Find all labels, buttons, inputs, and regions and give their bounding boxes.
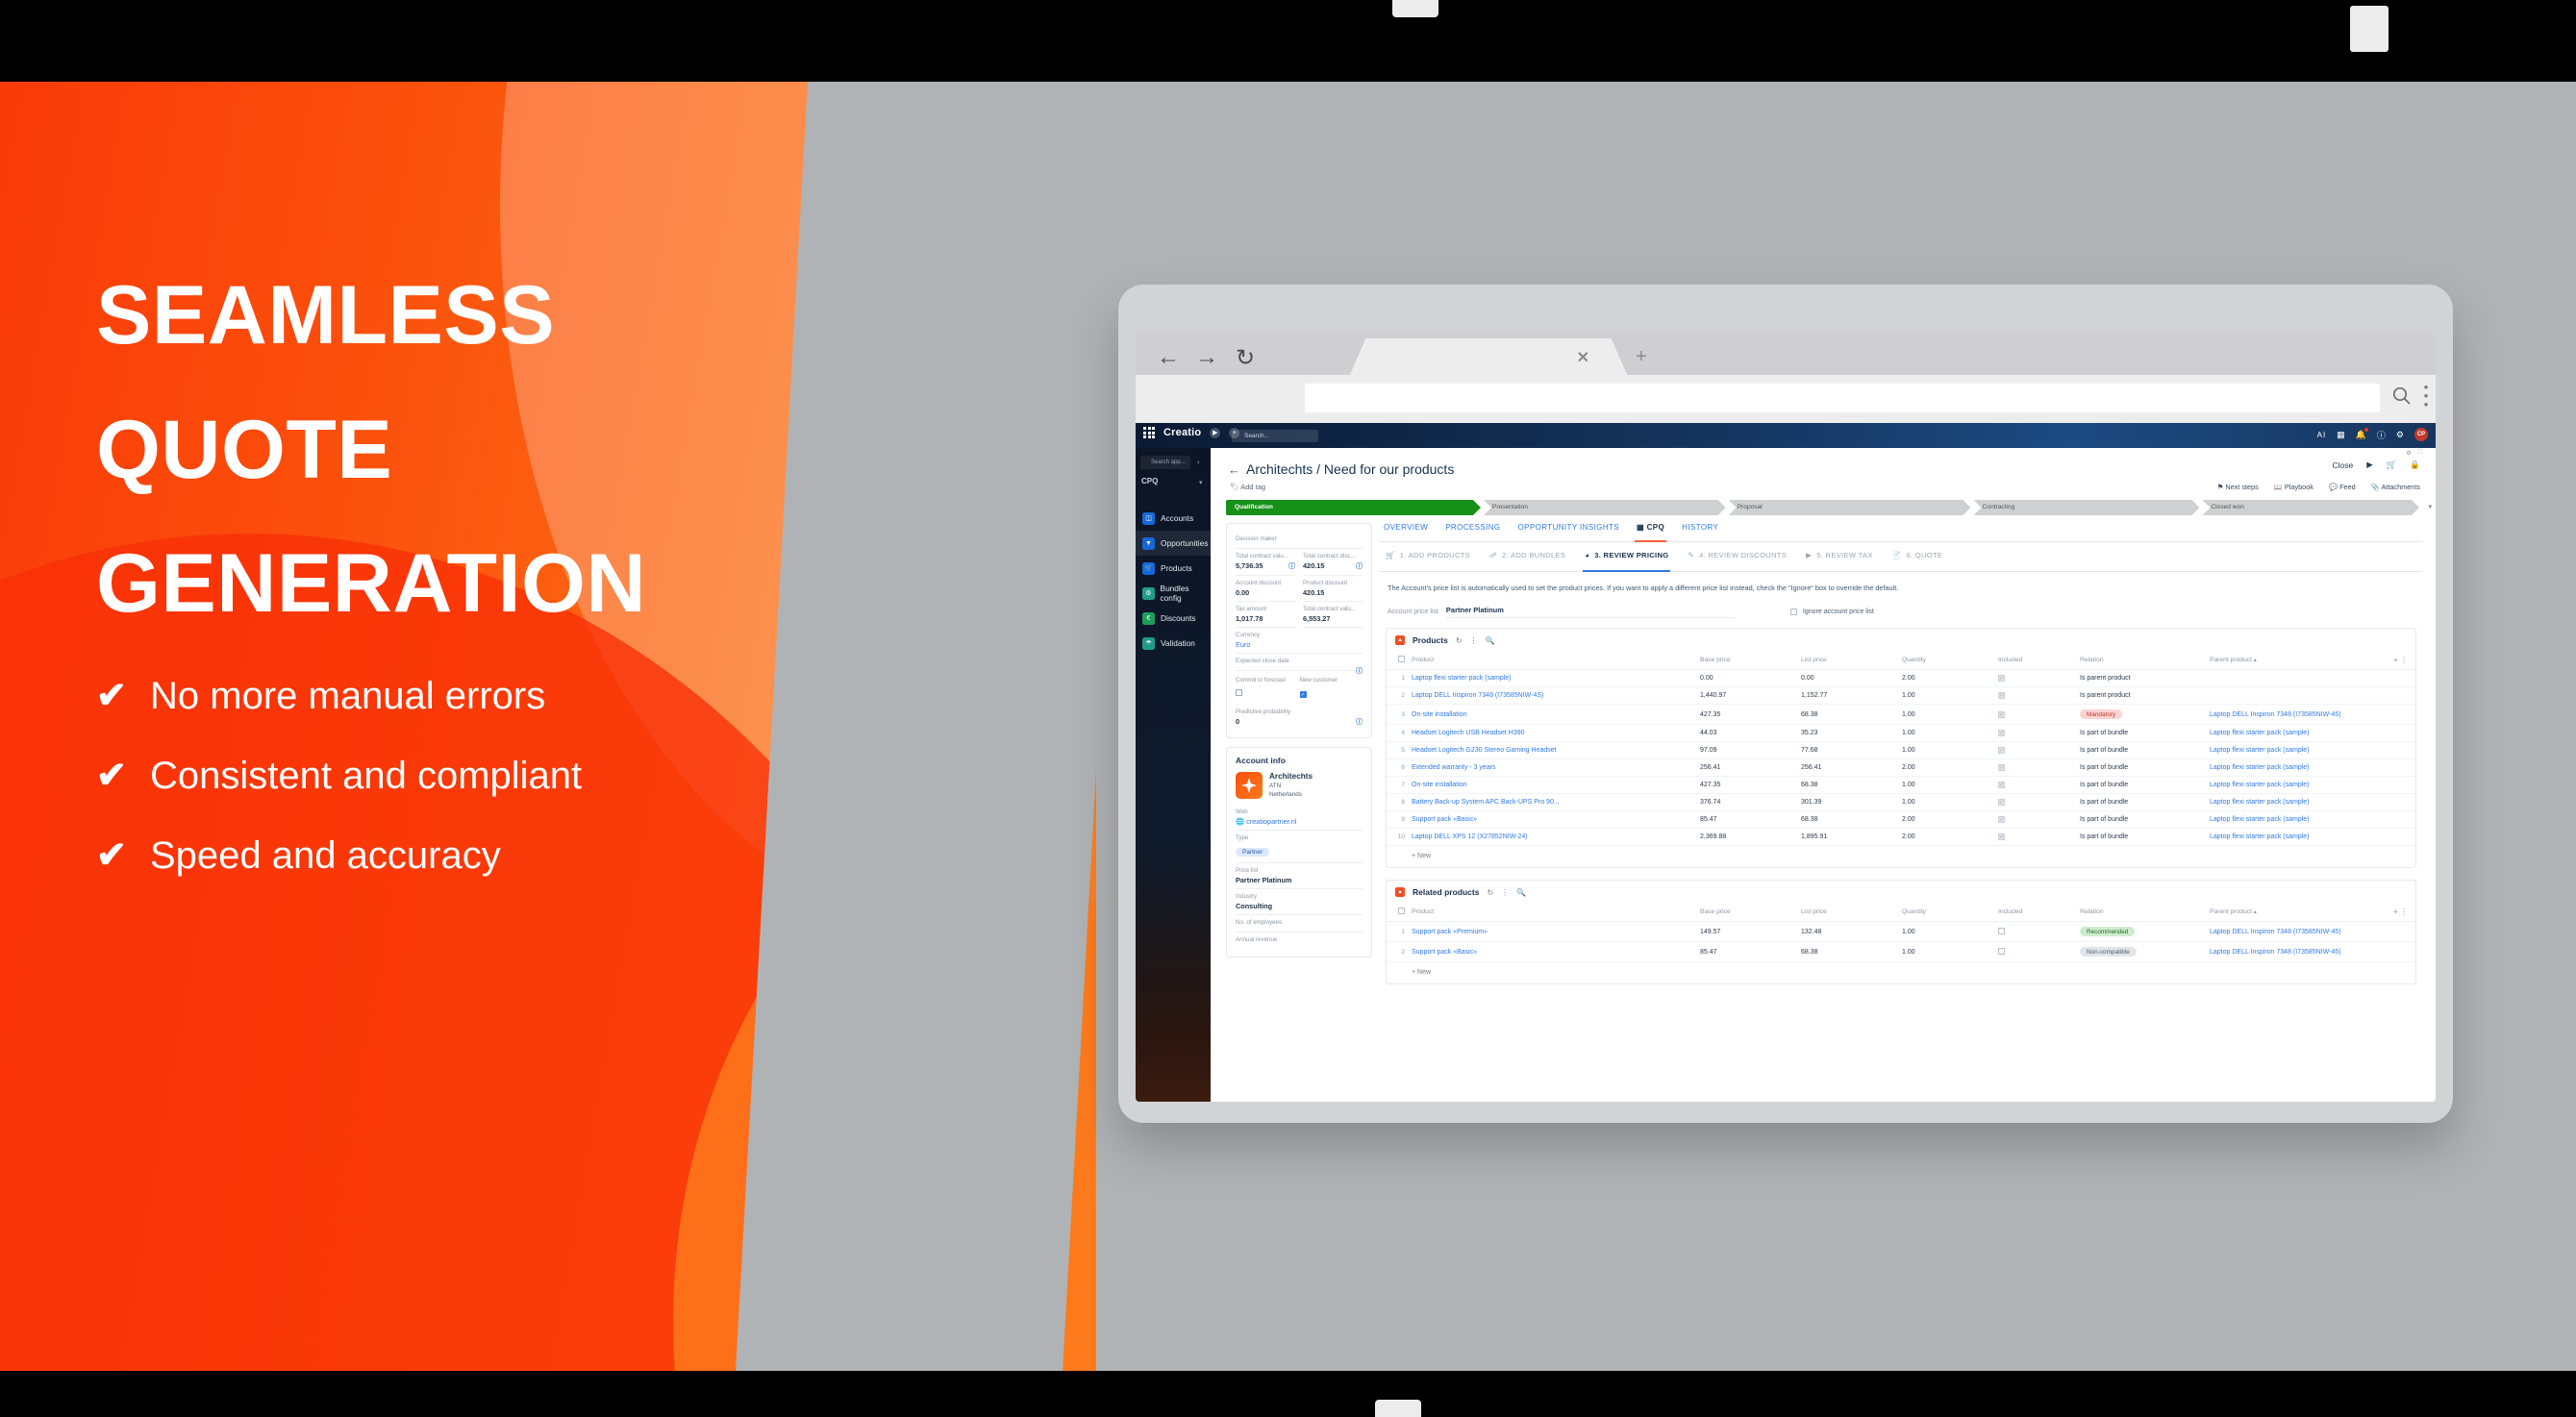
cell-relation: Is part of bundle (2080, 777, 2210, 794)
cell-included[interactable]: ✓ (1998, 670, 2080, 687)
tag-icon: 🏷 (1230, 483, 1239, 491)
product-link[interactable]: Extended warranty - 3 years (1412, 764, 1496, 771)
add-tag-button[interactable]: 🏷 Add tag (1230, 483, 1265, 491)
cell-product[interactable]: Support pack «Basic» (1412, 942, 1700, 962)
benefit-list: ✔ No more manual errors ✔ Consistent and… (96, 677, 646, 875)
close-button[interactable]: Close (2333, 460, 2354, 470)
row-index: 10 (1387, 829, 1412, 846)
sort-asc-icon: ▴ (2254, 658, 2257, 663)
info-icon[interactable]: ⓘ (1356, 561, 1363, 571)
sidebar-search-input[interactable]: Search app... (1140, 456, 1190, 469)
field-predictive-probability[interactable]: Predictive probability 0ⓘ (1236, 705, 1363, 730)
row-index: 1 (1387, 670, 1412, 687)
tab-cpq[interactable]: ▦ CPQ (1637, 523, 1664, 536)
kebab-menu-icon[interactable]: ⋮ (2400, 907, 2408, 916)
back-icon[interactable]: ← (1228, 462, 1240, 477)
cell-parent-product[interactable]: Laptop flexi starter pack (sample) (2210, 777, 2371, 794)
col-relation[interactable]: Relation (2080, 903, 2210, 922)
included-checkbox[interactable]: ✓ (1998, 833, 2005, 840)
field-value: 5,736.35ⓘ (1236, 561, 1295, 570)
cell-base-price: 1,440.97 (1700, 687, 1801, 705)
parent-product-link[interactable]: Laptop DELL Inspiron 7348 (I73585NIW-45) (2210, 929, 2341, 935)
collapse-icon[interactable]: ▲ (1395, 887, 1405, 897)
kebab-menu-icon[interactable]: ⋮ (1501, 888, 1509, 897)
col-included[interactable]: Included (1998, 651, 2080, 670)
field-total-contract-value-2[interactable]: Total contract valu... 6,553.27 (1303, 602, 1363, 628)
apps-grid-icon[interactable] (1143, 427, 1155, 438)
cell-list-price: 1,895.91 (1801, 829, 1902, 846)
list-item: ✔ Speed and accuracy (96, 836, 646, 875)
cell-base-price: 376.74 (1700, 794, 1801, 811)
field-type[interactable]: Type Partner (1236, 831, 1363, 863)
field-label: Annual revenue (1236, 936, 1363, 943)
avatar[interactable]: CP (2414, 428, 2428, 441)
field-value: 0ⓘ (1236, 717, 1363, 726)
field-commit-to-forecast[interactable]: Commit to forecast (1236, 673, 1292, 705)
cell-included[interactable]: ✓ (1998, 725, 2080, 742)
cell-relation: Is parent product (2080, 670, 2210, 687)
sidebar-item-label: Accounts (1161, 513, 1193, 523)
sidebar-item-label: Opportunities (1161, 538, 1208, 548)
cell-product[interactable]: Support pack «Premium» (1412, 922, 1700, 942)
stage-contracting[interactable]: Contracting (1974, 500, 2200, 515)
product-link[interactable]: Headset Logitech USB Headset H390 (1412, 730, 1525, 736)
parent-product-link[interactable]: Laptop flexi starter pack (sample) (2210, 730, 2310, 736)
included-checkbox[interactable]: ✓ (1998, 711, 2005, 718)
cell-list-price: 35.23 (1801, 725, 1902, 742)
sidebar-item-bundles-config[interactable]: ⚙ Bundles config (1136, 581, 1211, 606)
cell-base-price: 0.00 (1700, 670, 1801, 687)
refresh-icon[interactable]: ↻ (1487, 888, 1493, 897)
plus-icon[interactable]: + (2393, 656, 2398, 664)
account-price-list-value[interactable]: Partner Platinum (1446, 606, 1735, 618)
parent-product-link[interactable]: Laptop DELL Inspiron 7348 (I73585NIW-45) (2210, 949, 2341, 956)
table-row[interactable]: 10Laptop DELL XPS 12 (X27852NIW-24)2,369… (1387, 829, 2415, 846)
add-new-related-button[interactable]: + New (1387, 962, 2415, 983)
field-employees[interactable]: No. of employees (1236, 915, 1363, 932)
global-search-input[interactable]: Search... (1232, 430, 1318, 442)
product-link[interactable]: Laptop DELL Inspiron 7348 (I73585NIW-4S) (1412, 692, 1543, 699)
table-row[interactable]: 7On-site installation427.3568.381.00✓Is … (1387, 777, 2415, 794)
parent-product-link[interactable]: Laptop DELL Inspiron 7348 (I73585NIW-45) (2210, 711, 2341, 718)
refresh-icon[interactable]: ↻ (1456, 636, 1463, 645)
field-label: Total contract valu... (1303, 606, 1363, 612)
sidebar-item-accounts[interactable]: ◫ Accounts (1136, 506, 1211, 531)
field-label: Currency (1236, 632, 1363, 638)
lock-icon[interactable]: 🔒 (2410, 460, 2420, 470)
table-row[interactable]: 1Support pack «Premium»149.57132.481.00R… (1387, 922, 2415, 942)
col-parent-product[interactable]: Parent product ▴ (2210, 651, 2371, 670)
parent-product-link[interactable]: Laptop flexi starter pack (sample) (2210, 782, 2310, 788)
field-new-customer[interactable]: New customer ✓ (1300, 673, 1357, 705)
device-notch-top (1392, 0, 1438, 17)
cell-base-price: 427.35 (1700, 705, 1801, 725)
add-tag-label: Add tag (1240, 483, 1265, 491)
cell-product[interactable]: On-site installation (1412, 705, 1700, 725)
select-all-checkbox[interactable] (1398, 907, 1405, 914)
related-block-header: ▲ Related products ↻ ⋮ 🔍 (1387, 881, 2415, 903)
search-icon[interactable]: 🔍 (1516, 888, 1526, 897)
parent-product-link[interactable]: Laptop flexi starter pack (sample) (2210, 764, 2310, 771)
cell-included[interactable]: ✓ (1998, 811, 2080, 829)
cell-list-price: 1,152.77 (1801, 687, 1902, 705)
relation-value: Is part of bundle (2080, 799, 2128, 806)
cell-relation: Is parent product (2080, 687, 2210, 705)
field-web[interactable]: Web 🌐 creatiopartner.nl (1236, 805, 1363, 831)
kebab-menu-icon[interactable]: ⋮ (1470, 636, 1478, 645)
ignore-price-list-toggle[interactable]: Ignore account price list (1790, 609, 1874, 615)
cell-quantity[interactable]: 1.00 (1902, 942, 1998, 962)
sidebar-item-products[interactable]: 🛒 Products (1136, 556, 1211, 581)
cell-included[interactable]: ✓ (1998, 829, 2080, 846)
included-checkbox[interactable]: ✓ (1998, 675, 2005, 682)
tab-processing[interactable]: PROCESSING (1445, 523, 1500, 536)
field-label: Total contract disc... (1303, 553, 1363, 559)
cell-included[interactable] (1998, 922, 2080, 942)
sidebar-item-opportunities[interactable]: ▼ Opportunities (1136, 531, 1211, 556)
forward-icon[interactable]: → (1195, 344, 1218, 371)
cell-parent-product[interactable]: Laptop flexi starter pack (sample) (2210, 759, 2371, 777)
cell-quantity[interactable]: 1.00 (1902, 687, 1998, 705)
sidebar-item-label: Bundles config (1161, 584, 1211, 603)
promo-copy: SEAMLESS QUOTE GENERATION ✔ No more manu… (96, 274, 646, 916)
field-label: Commit to forecast (1236, 677, 1292, 684)
included-checkbox[interactable]: ✓ (1998, 799, 2005, 806)
field-account-discount[interactable]: Account discount 0.00 (1236, 576, 1295, 602)
cell-quantity[interactable]: 1.00 (1902, 922, 1998, 942)
field-industry[interactable]: Industry Consulting (1236, 889, 1363, 915)
file-icon: 📄 (1892, 551, 1902, 559)
cell-quantity[interactable]: 1.00 (1902, 777, 1998, 794)
col-base-price[interactable]: Base price (1700, 651, 1801, 670)
table-row[interactable]: 3On-site installation427.3568.381.00✓Man… (1387, 705, 2415, 725)
account-country: Netherlands (1269, 791, 1313, 798)
table-row[interactable]: 2Laptop DELL Inspiron 7348 (I73585NIW-4S… (1387, 687, 2415, 705)
cell-parent-product[interactable]: Laptop DELL Inspiron 7348 (I73585NIW-45) (2210, 942, 2371, 962)
cell-included[interactable]: ✓ (1998, 687, 2080, 705)
status-badge: Partner (1236, 848, 1269, 857)
ai-icon[interactable]: AI (2317, 431, 2327, 439)
run-icon[interactable]: ▶ (1210, 428, 1220, 438)
cell-included[interactable]: ✓ (1998, 777, 2080, 794)
col-product[interactable]: Product (1412, 651, 1700, 670)
col-parent-product[interactable]: Parent product ▴ (2210, 903, 2371, 922)
col-quantity[interactable]: Quantity (1902, 651, 1998, 670)
table-row[interactable]: 1Laptop flexi starter pack (sample)0.000… (1387, 670, 2415, 687)
relation-value: Is part of bundle (2080, 747, 2128, 754)
parent-product-link[interactable]: Laptop flexi starter pack (sample) (2210, 816, 2310, 823)
ignore-checkbox[interactable] (1790, 609, 1797, 615)
collapse-icon[interactable]: ▲ (1395, 635, 1405, 645)
col-included[interactable]: Included (1998, 903, 2080, 922)
address-bar[interactable] (1305, 384, 2380, 412)
run-icon[interactable]: ▶ (2366, 460, 2373, 470)
cell-product[interactable]: Headset Logitech USB Headset H390 (1412, 725, 1700, 742)
sidebar-item-validation[interactable]: ☂ Validation (1136, 631, 1211, 656)
product-link[interactable]: Support pack «Premium» (1412, 929, 1488, 935)
product-link[interactable]: Support pack «Basic» (1412, 949, 1477, 956)
gear-icon[interactable]: ⚙ (2406, 450, 2411, 457)
step-review-tax[interactable]: ▶5. REVIEW TAX (1806, 551, 1873, 565)
field-value: 420.15ⓘ (1303, 561, 1363, 570)
headline-line-3: GENERATION (96, 542, 646, 627)
account-identity: Architechts ATN Netherlands (1236, 772, 1363, 799)
product-link[interactable]: Laptop flexi starter pack (sample) (1412, 675, 1512, 682)
cell-quantity[interactable]: 1.00 (1902, 794, 1998, 811)
book-icon: 📖 (2274, 483, 2283, 491)
col-product[interactable]: Product (1412, 903, 1700, 922)
stage-presentation[interactable]: Presentation (1484, 500, 1726, 515)
cell-product[interactable]: Support pack «Basic» (1412, 811, 1700, 829)
info-icon[interactable]: ⓘ (1288, 561, 1295, 571)
gear-icon[interactable]: ⚙ (2396, 430, 2404, 440)
page-title: SEAMLESS QUOTE GENERATION (96, 274, 646, 627)
search-icon[interactable]: 🔍 (1486, 636, 1495, 645)
table-row[interactable]: 8Battery Back-up System APC Back-UPS Pro… (1387, 794, 2415, 811)
flag-icon: ⚑ (2217, 483, 2224, 491)
field-price-list[interactable]: Price list Partner Platinum (1236, 863, 1363, 889)
search-icon[interactable] (2391, 385, 2414, 409)
parent-product-link[interactable]: Laptop flexi starter pack (sample) (2210, 747, 2310, 754)
included-checkbox[interactable] (1998, 948, 2005, 955)
select-all-checkbox[interactable] (1398, 656, 1405, 662)
included-checkbox[interactable]: ✓ (1998, 782, 2005, 788)
tab-history[interactable]: HISTORY (1682, 523, 1718, 536)
table-row[interactable]: 4Headset Logitech USB Headset H39044.033… (1387, 725, 2415, 742)
field-label: Product discount (1303, 580, 1363, 586)
cell-list-price: 68.38 (1801, 811, 1902, 829)
cell-included[interactable]: ✓ (1998, 742, 2080, 759)
cell-relation: Is part of bundle (2080, 725, 2210, 742)
cell-relation: Non-compatible (2080, 942, 2210, 962)
table-row[interactable]: 2Support pack «Basic»85.4768.381.00Non-c… (1387, 942, 2415, 962)
cell-parent-product[interactable]: Laptop flexi starter pack (sample) (2210, 725, 2371, 742)
commit-checkbox[interactable] (1236, 689, 1242, 696)
cell-quantity[interactable]: 1.00 (1902, 725, 1998, 742)
info-icon[interactable]: ⓘ (1356, 717, 1363, 727)
cell-base-price: 149.57 (1700, 922, 1801, 942)
cell-parent-product[interactable]: Laptop flexi starter pack (sample) (2210, 829, 2371, 846)
tab-opportunity-insights[interactable]: OPPORTUNITY INSIGHTS (1518, 523, 1620, 536)
close-icon[interactable]: ✕ (1577, 348, 1589, 367)
product-link[interactable]: On-site installation (1412, 711, 1467, 718)
included-checkbox[interactable]: ✓ (1998, 692, 2005, 699)
sidebar-section-label: CPQ (1141, 477, 1158, 485)
col-base-price[interactable]: Base price (1700, 903, 1801, 922)
new-customer-checkbox[interactable]: ✓ (1300, 691, 1307, 698)
stage-proposal[interactable]: Proposal (1729, 500, 1971, 515)
letterbox-bottom (0, 1371, 2576, 1417)
field-annual-revenue[interactable]: Annual revenue (1236, 932, 1363, 949)
included-checkbox[interactable]: ✓ (1998, 730, 2005, 736)
cell-relation: Is part of bundle (2080, 811, 2210, 829)
cell-quantity[interactable]: 2.00 (1902, 829, 1998, 846)
col-list-price[interactable]: List price (1801, 651, 1902, 670)
kebab-menu-icon[interactable]: ••• (2420, 383, 2432, 409)
row-index: 2 (1387, 942, 1412, 962)
cell-base-price: 85.47 (1700, 942, 1801, 962)
product-link[interactable]: Battery Back-up System APC Back-UPS Pro … (1412, 799, 1560, 806)
relation-value: Is part of bundle (2080, 833, 2128, 840)
cell-parent-product[interactable]: Laptop flexi starter pack (sample) (2210, 811, 2371, 829)
col-list-price[interactable]: List price (1801, 903, 1902, 922)
sidebar-item-discounts[interactable]: € Discounts (1136, 606, 1211, 631)
help-icon[interactable]: ⓘ (2377, 429, 2386, 441)
check-icon: ✔ (96, 837, 150, 874)
relation-value: Is part of bundle (2080, 816, 2128, 823)
relation-value: Is part of bundle (2080, 782, 2128, 788)
row-index: 6 (1387, 759, 1412, 777)
back-icon[interactable]: ← (1157, 344, 1180, 371)
cell-product[interactable]: Laptop flexi starter pack (sample) (1412, 670, 1700, 687)
field-product-discount[interactable]: Product discount 420.15 (1303, 576, 1363, 602)
record-quick-actions: ⚑ Next steps 📖 Playbook 💬 Feed 📎 Attachm… (2217, 483, 2420, 491)
field-value[interactable]: Euro (1236, 640, 1363, 649)
cell-product[interactable]: Extended warranty - 3 years (1412, 759, 1700, 777)
kebab-menu-icon[interactable]: ⋮ (2400, 656, 2408, 664)
cell-included[interactable] (1998, 942, 2080, 962)
row-index: 2 (1387, 687, 1412, 705)
related-products-table: Product Base price List price Quantity I… (1387, 903, 2415, 962)
account-info-card: Account info Architechts ATN Netherlands (1226, 747, 1372, 957)
playbook-button[interactable]: 📖 Playbook (2274, 483, 2313, 491)
field-tax-amount[interactable]: Tax amount 1,017.78 (1236, 602, 1295, 628)
products-block-header: ▲ Products ↻ ⋮ 🔍 (1387, 629, 2415, 651)
cell-quantity[interactable]: 2.00 (1902, 670, 1998, 687)
topbar-right: AI ▦ 🔔 ⓘ ⚙ CP (2317, 428, 2428, 441)
account-price-list-row: Account price list Partner Platinum Igno… (1380, 602, 2422, 628)
field-expected-close-date[interactable]: Expected close date ⓘ (1236, 654, 1363, 671)
attachments-button[interactable]: 📎 Attachments (2371, 483, 2420, 491)
included-checkbox[interactable]: ✓ (1998, 816, 2005, 823)
cell-product[interactable]: Laptop DELL Inspiron 7348 (I73585NIW-4S) (1412, 687, 1700, 705)
info-icon[interactable]: ⓘ (1356, 666, 1363, 676)
field-label: Industry (1236, 893, 1363, 900)
add-new-product-button[interactable]: + New (1387, 846, 2415, 867)
device-notch-bottom (1375, 1400, 1421, 1417)
cell-product[interactable]: On-site installation (1412, 777, 1700, 794)
creatio-app: Creatio ▶ + Search... AI ▦ 🔔 ⓘ ⚙ CP (1136, 423, 2436, 1102)
parent-product-link[interactable]: Laptop flexi starter pack (sample) (2210, 833, 2310, 840)
cell-quantity[interactable]: 2.00 (1902, 811, 1998, 829)
step-review-pricing[interactable]: ◕3. REVIEW PRICING (1585, 551, 1668, 565)
cell-list-price: 256.41 (1801, 759, 1902, 777)
included-checkbox[interactable]: ✓ (1998, 764, 2005, 771)
cell-quantity[interactable]: 1.00 (1902, 742, 1998, 759)
related-title: Related products (1413, 887, 1479, 897)
included-checkbox[interactable] (1998, 928, 2005, 934)
cpq-content: OVERVIEW PROCESSING OPPORTUNITY INSIGHTS… (1380, 523, 2422, 996)
cell-parent-product[interactable]: Laptop flexi starter pack (sample) (2210, 794, 2371, 811)
chevron-down-icon[interactable]: ▾ (1199, 479, 1203, 486)
step-add-bundles[interactable]: ☍2. ADD BUNDLES (1489, 551, 1565, 565)
paperclip-icon: 📎 (2371, 483, 2380, 491)
app-topbar: Creatio ▶ + Search... AI ▦ 🔔 ⓘ ⚙ CP (1136, 423, 2436, 448)
account-price-list-label: Account price list (1388, 609, 1438, 615)
tab-bar: OVERVIEW PROCESSING OPPORTUNITY INSIGHTS… (1380, 523, 2422, 542)
sort-asc-icon: ▴ (2254, 909, 2257, 915)
field-label: Predictive probability (1236, 708, 1363, 715)
list-item: ✔ Consistent and compliant (96, 757, 646, 795)
cpq-step-bar: 🛒1. ADD PRODUCTS ☍2. ADD BUNDLES ◕3. REV… (1380, 542, 2422, 572)
cell-product[interactable]: Headset Logitech G230 Stereo Gaming Head… (1412, 742, 1700, 759)
field-label: Type (1236, 834, 1363, 841)
gear-grid-icon: ⚙ (1142, 587, 1155, 600)
cell-included[interactable]: ✓ (1998, 705, 2080, 725)
col-relation[interactable]: Relation (2080, 651, 2210, 670)
stage-qualification[interactable]: Qualification (1226, 500, 1481, 515)
status-badge: Recommended (2080, 927, 2135, 936)
table-row[interactable]: 9Support pack «Basic»85.4768.382.00✓Is p… (1387, 811, 2415, 829)
field-total-contract-discount[interactable]: Total contract disc... 420.15ⓘ (1303, 549, 1363, 576)
field-value: Partner Platinum (1236, 876, 1363, 884)
sidebar-collapse-icon[interactable]: ‹ (1197, 458, 1200, 466)
check-icon: ✔ (96, 758, 150, 794)
field-decision-maker[interactable]: Decision maker (1236, 532, 1363, 549)
field-total-contract-value[interactable]: Total contract valu... 5,736.35ⓘ (1236, 549, 1295, 576)
plus-icon[interactable]: + (2393, 907, 2398, 916)
cell-parent-product[interactable] (2210, 687, 2371, 705)
table-row[interactable]: 6Extended warranty - 3 years256.41256.41… (1387, 759, 2415, 777)
browser-tab[interactable]: ✕ (1349, 338, 1628, 377)
euro-icon: € (1142, 612, 1155, 625)
table-row[interactable]: 5Headset Logitech G230 Stereo Gaming Hea… (1387, 742, 2415, 759)
cell-parent-product[interactable] (2210, 670, 2371, 687)
stage-closed-won[interactable]: Closed won (2202, 500, 2419, 515)
cell-product[interactable]: Battery Back-up System APC Back-UPS Pro … (1412, 794, 1700, 811)
step-quote[interactable]: 📄6. QUOTE (1892, 551, 1943, 565)
reload-icon[interactable]: ↻ (1236, 344, 1255, 372)
next-steps-button[interactable]: ⚑ Next steps (2217, 483, 2259, 491)
apps-icon[interactable]: ▦ (2337, 430, 2345, 440)
cell-included[interactable]: ✓ (1998, 759, 2080, 777)
field-value: 6,553.27 (1303, 614, 1363, 623)
field-value[interactable]: 🌐 creatiopartner.nl (1236, 817, 1363, 826)
bullet-label: Consistent and compliant (150, 757, 582, 795)
cell-relation: Is part of bundle (2080, 829, 2210, 846)
sidebar: Search app... ‹ CPQ ▾ ◫ Accounts ▼ Oppor… (1136, 448, 1211, 1102)
product-link[interactable]: Laptop DELL XPS 12 (X27852NIW-24) (1412, 833, 1528, 840)
chevron-down-icon[interactable]: ▾ (2428, 500, 2432, 515)
field-currency[interactable]: Currency Euro (1236, 628, 1363, 654)
product-link[interactable]: On-site installation (1412, 782, 1467, 788)
cell-parent-product[interactable]: Laptop DELL Inspiron 7348 (I73585NIW-45) (2210, 922, 2371, 942)
cell-relation: Mandatory (2080, 705, 2210, 725)
step-review-discounts[interactable]: ✎4. REVIEW DISCOUNTS (1688, 551, 1787, 565)
detail-column: Decision maker Total contract valu... 5,… (1226, 523, 1372, 966)
cell-quantity[interactable]: 1.00 (1902, 705, 1998, 725)
col-quantity[interactable]: Quantity (1902, 903, 1998, 922)
feed-button[interactable]: 💬 Feed (2329, 483, 2356, 491)
account-info-title: Account info (1236, 756, 1363, 765)
globe-icon: 🌐 (1236, 817, 1244, 826)
expand-icon[interactable]: ⛶ (2418, 450, 2422, 457)
new-tab-icon[interactable]: + (1636, 346, 1647, 368)
cell-parent-product[interactable]: Laptop DELL Inspiron 7348 (I73585NIW-45) (2210, 705, 2371, 725)
parent-product-link[interactable]: Laptop flexi starter pack (sample) (2210, 799, 2310, 806)
included-checkbox[interactable]: ✓ (1998, 747, 2005, 754)
bell-icon[interactable]: 🔔 (2356, 430, 2366, 440)
product-link[interactable]: Headset Logitech G230 Stereo Gaming Head… (1412, 747, 1557, 754)
cart-icon[interactable]: 🛒 (2387, 460, 2397, 470)
tab-overview[interactable]: OVERVIEW (1384, 523, 1428, 536)
product-link[interactable]: Support pack «Basic» (1412, 816, 1477, 823)
step-add-products[interactable]: 🛒1. ADD PRODUCTS (1386, 551, 1470, 565)
cell-parent-product[interactable]: Laptop flexi starter pack (sample) (2210, 742, 2371, 759)
cell-included[interactable]: ✓ (1998, 794, 2080, 811)
cell-quantity[interactable]: 2.00 (1902, 759, 1998, 777)
cell-product[interactable]: Laptop DELL XPS 12 (X27852NIW-24) (1412, 829, 1700, 846)
